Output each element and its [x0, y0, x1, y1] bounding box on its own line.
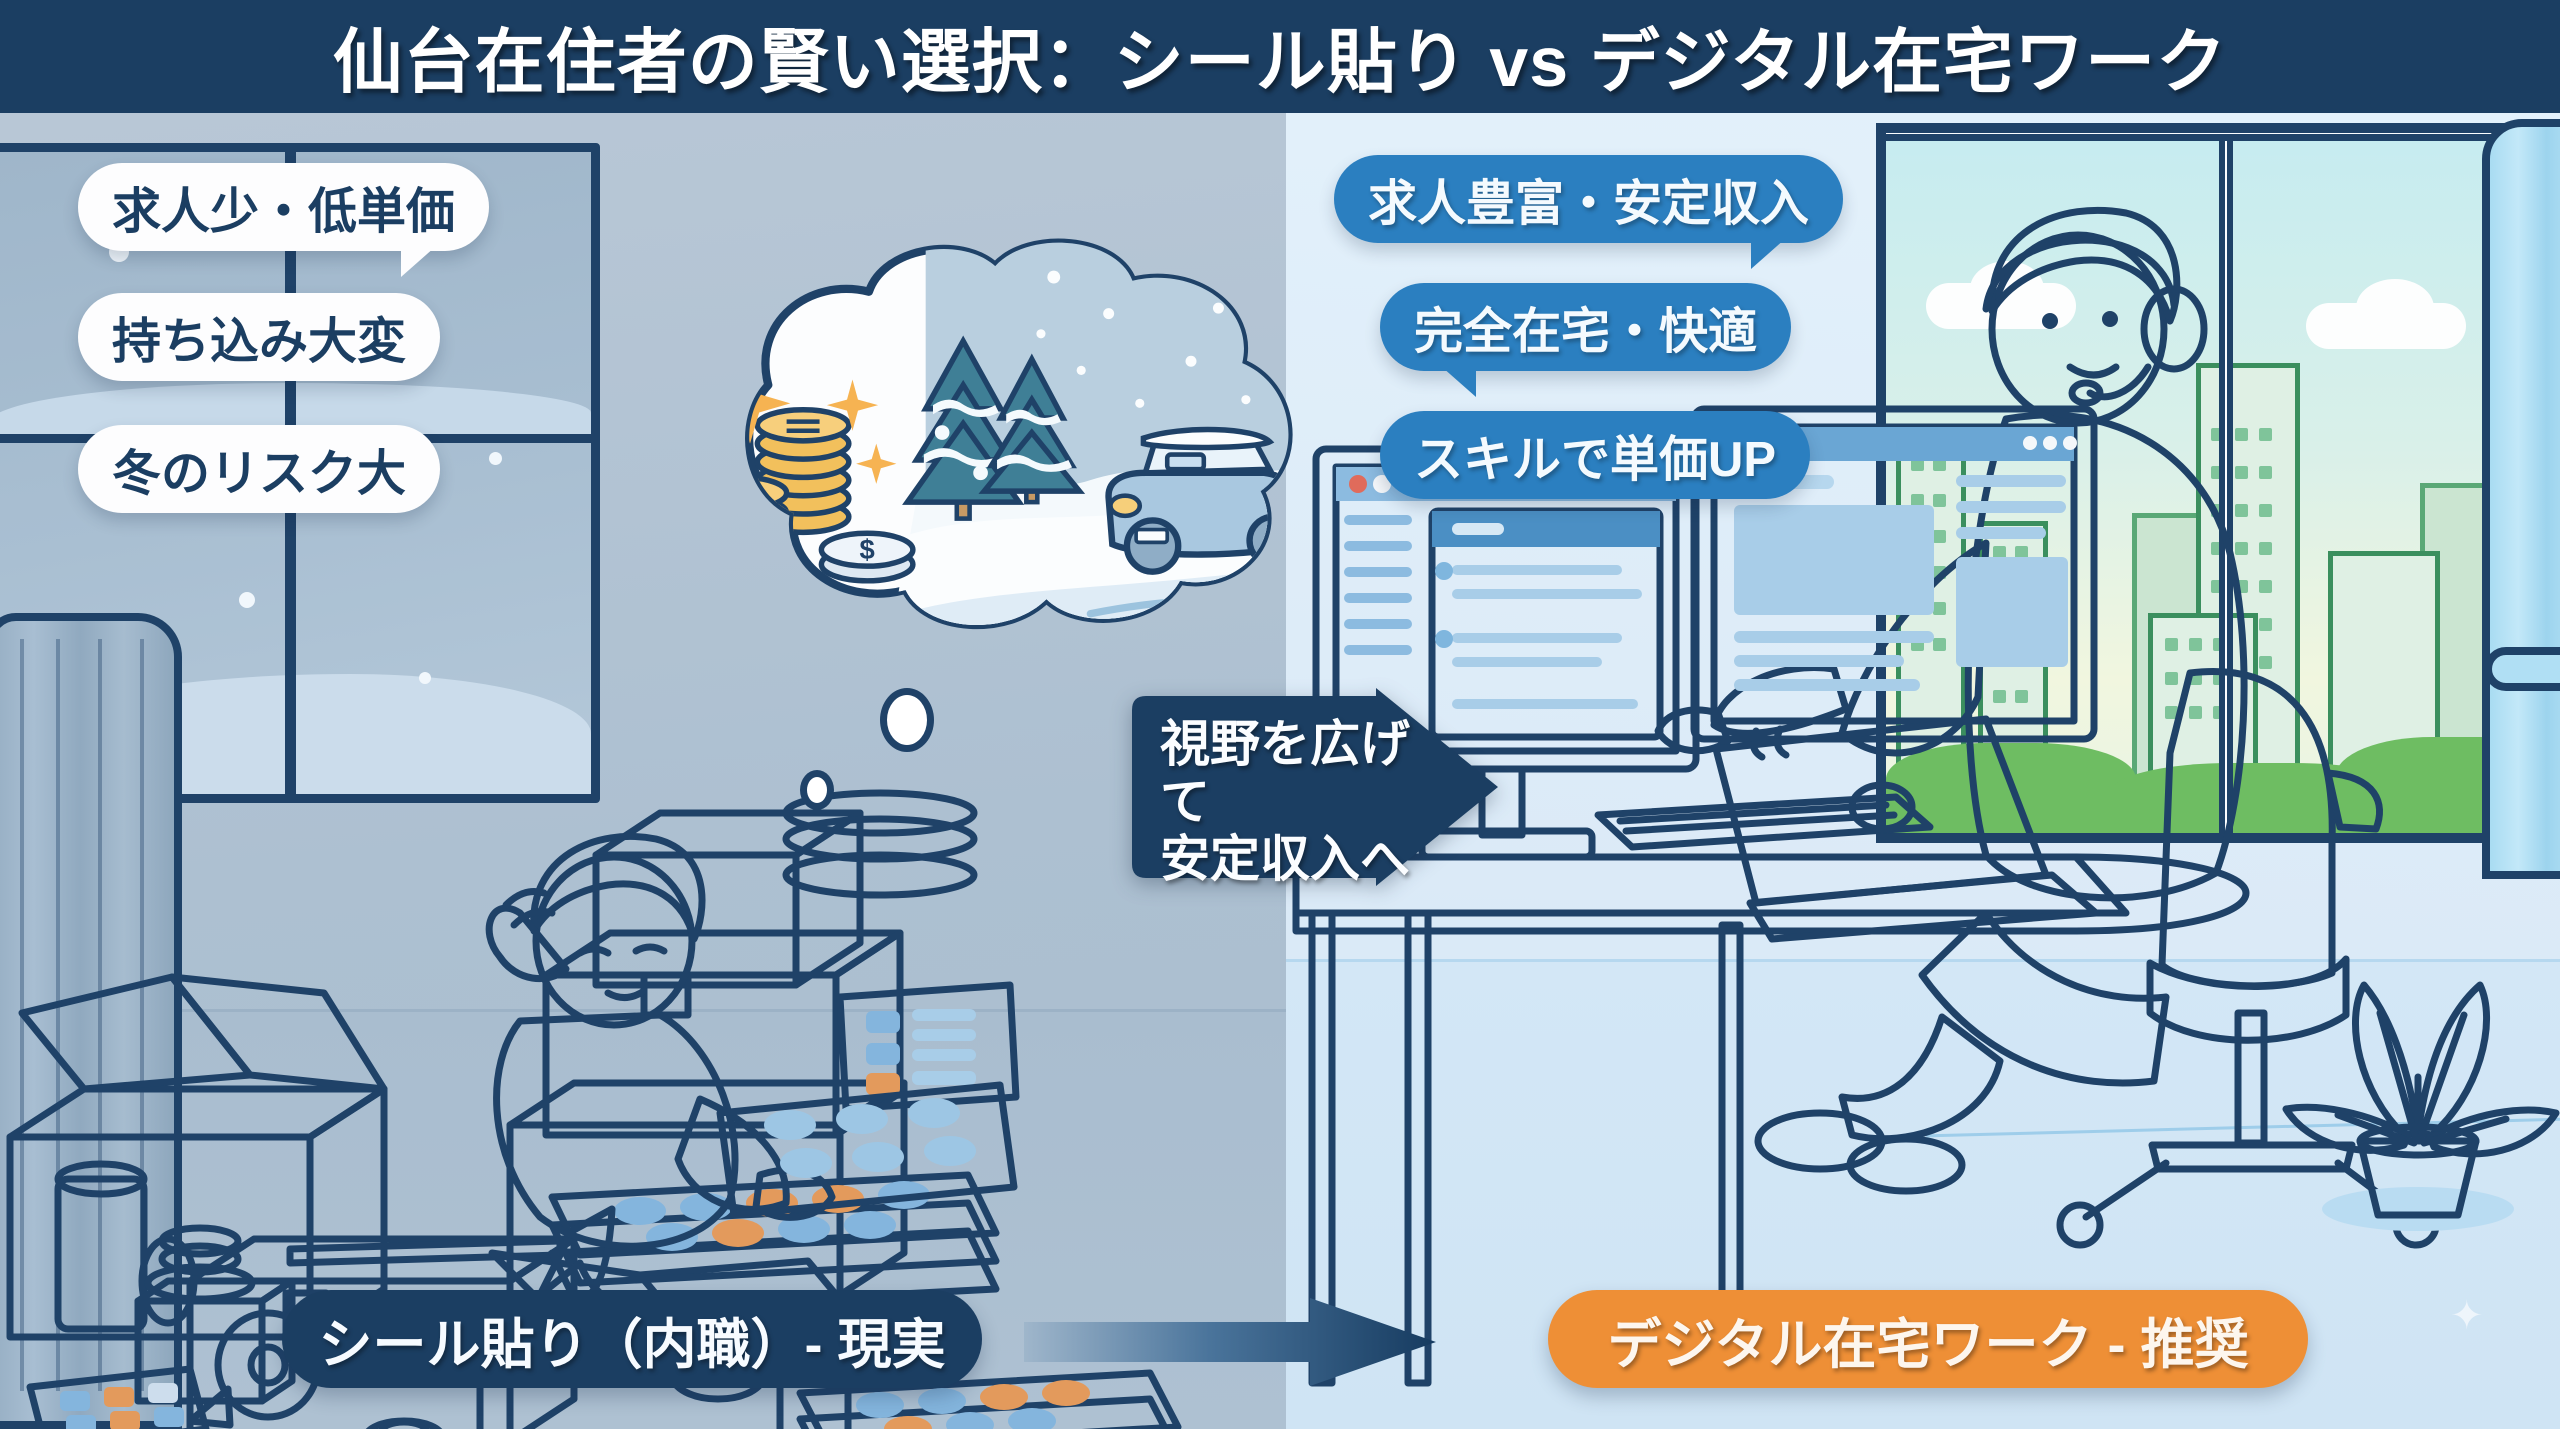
keyboard — [1598, 797, 1930, 847]
badge-right-1: 求人豊富・安定収入 — [1334, 155, 1843, 243]
bubble-contents: $ $ — [699, 224, 1347, 654]
badge-label: 完全在宅・快適 — [1414, 292, 1757, 363]
right-bottom-label: デジタル在宅ワーク - 推奨 — [1548, 1290, 2308, 1388]
right-bottom-label-text: デジタル在宅ワーク - 推奨 — [1608, 1300, 2249, 1379]
badge-label: 求人豊富・安定収入 — [1368, 164, 1809, 235]
badge-right-2: 完全在宅・快適 — [1380, 283, 1791, 371]
badge-left-3: 冬のリスク大 — [78, 425, 440, 513]
thought-bubble: $ $ — [596, 224, 1356, 654]
badge-label: 冬のリスク大 — [112, 434, 406, 505]
coin-dollar-symbol: $ — [859, 534, 874, 565]
thought-bubble-dot — [800, 770, 834, 810]
header-bar: 仙台在住者の賢い選択：シール貼り vs デジタル在宅ワーク — [0, 0, 2560, 113]
center-arrow-text: 視野を広げて 安定収入へ — [1160, 716, 1420, 889]
bottom-transition-arrow — [1024, 1296, 1436, 1388]
badge-label: 持ち込み大変 — [112, 302, 406, 373]
page-title: 仙台在住者の賢い選択：シール貼り vs デジタル在宅ワーク — [333, 6, 2227, 107]
center-arrow-line1: 視野を広げて — [1160, 716, 1420, 831]
badge-left-1: 求人少・低単価 — [78, 163, 489, 251]
badge-left-2: 持ち込み大変 — [78, 293, 440, 381]
badge-right-3: スキルで単価UP — [1380, 411, 1810, 499]
center-arrow-line2: 安定収入へ — [1160, 831, 1420, 889]
badge-label: スキルで単価UP — [1414, 420, 1776, 491]
coin-dollar-symbol: $ — [735, 476, 750, 507]
infographic-canvas: 仙台在住者の賢い選択：シール貼り vs デジタル在宅ワーク — [0, 0, 2560, 1429]
thought-bubble-dot — [880, 688, 934, 752]
left-bottom-label-text: シール貼り（内職）- 現実 — [319, 1300, 946, 1379]
badge-label: 求人少・低単価 — [112, 172, 455, 243]
left-bottom-label: シール貼り（内職）- 現実 — [282, 1290, 982, 1388]
potted-plant — [2268, 953, 2560, 1253]
sparkle-icon: ✦ — [2450, 1293, 2484, 1339]
